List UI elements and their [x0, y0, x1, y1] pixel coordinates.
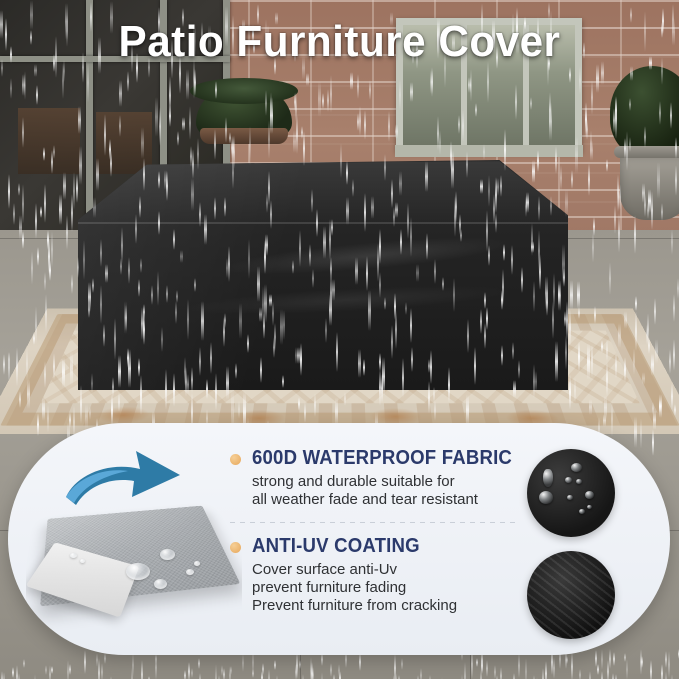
feature-panel: 600D WATERPROOF FABRIC strong and durabl… — [8, 423, 670, 655]
feature-heading: ANTI-UV COATING — [252, 535, 501, 557]
water-droplet — [80, 559, 85, 563]
feature-line: prevent furniture fading — [252, 579, 520, 597]
feature-line: Cover surface anti-Uv — [252, 561, 520, 579]
fabric-weave-swatch — [527, 551, 615, 639]
plant-pot — [620, 150, 679, 220]
door-reflection — [18, 108, 80, 174]
section-divider — [230, 522, 520, 523]
door-reflection — [96, 112, 152, 174]
water-bead — [579, 509, 585, 514]
water-beading-swatch — [527, 449, 615, 537]
water-droplet — [154, 579, 167, 589]
page-title: Patio Furniture Cover — [14, 18, 666, 66]
feature-item-anti-uv: ANTI-UV COATING Cover surface anti-Uv pr… — [230, 535, 520, 615]
water-repel-arrow-icon — [62, 435, 212, 531]
topiary-plant — [610, 66, 679, 158]
water-bead — [585, 491, 594, 499]
water-droplet — [70, 553, 77, 558]
feature-list: 600D WATERPROOF FABRIC strong and durabl… — [230, 447, 520, 615]
feature-description: Cover surface anti-Uv prevent furniture … — [252, 561, 520, 615]
water-droplet — [126, 563, 150, 580]
feature-heading: 600D WATERPROOF FABRIC — [252, 447, 501, 469]
water-droplet — [160, 549, 175, 560]
product-marketing-image: Patio Furniture Cover 600D WATERPROOF FA… — [0, 0, 679, 679]
water-droplet — [186, 569, 194, 575]
water-bead — [587, 505, 592, 509]
feature-description: strong and durable suitable for all weat… — [252, 473, 520, 509]
cover-sheen — [78, 160, 568, 390]
water-repellent-fabric-illustration — [26, 427, 242, 651]
water-droplet — [194, 561, 200, 566]
feature-line: Prevent furniture from cracking — [252, 597, 520, 615]
feature-line: strong and durable suitable for — [252, 473, 520, 491]
water-bead — [567, 495, 573, 500]
feature-item-waterproof: 600D WATERPROOF FABRIC strong and durabl… — [230, 447, 520, 509]
window-sill — [395, 145, 583, 157]
bullet-dot-icon — [230, 454, 241, 465]
water-bead — [539, 491, 553, 504]
water-bead — [543, 469, 553, 487]
patio-furniture-cover — [78, 160, 568, 390]
water-bead — [576, 479, 582, 484]
water-bead — [565, 477, 572, 483]
bullet-dot-icon — [230, 542, 241, 553]
feature-line: all weather fade and tear resistant — [252, 491, 520, 509]
planter-box — [200, 128, 288, 144]
water-bead — [571, 463, 582, 472]
